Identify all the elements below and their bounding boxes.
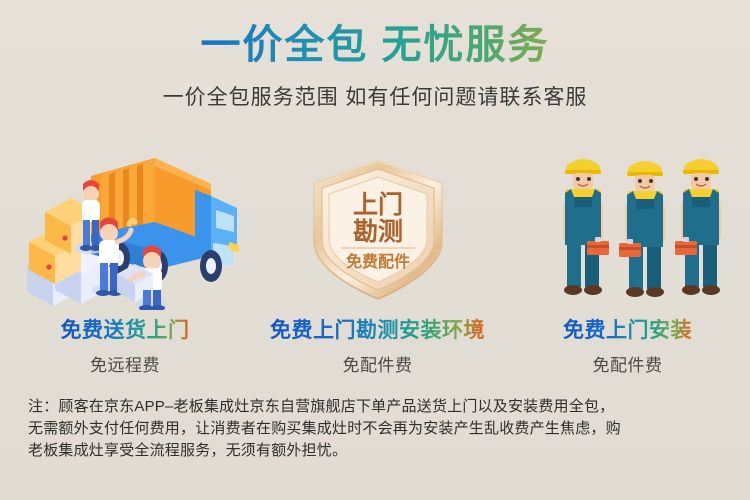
promo-banner: 一价全包 无忧服务 一价全包服务范围 如有任何问题请联系客服 — [0, 0, 750, 500]
workers-icon — [533, 153, 723, 308]
footnote-line-1: 注：顾客在京东APP–老板集成灶京东自营旗舰店下单产品送货上门以及安装费用全包， — [28, 396, 728, 418]
badge-line2: 勘测 — [352, 218, 402, 246]
feature-free-survey: 上门 勘测 免费配件 免费上门勘测安装环境 免配件费 — [250, 150, 505, 380]
feature-subtitle-free-survey: 免配件费 — [270, 351, 485, 376]
badge-line1: 上门 — [352, 190, 402, 219]
feature-captions: 免费送货上门 免远程费 — [61, 314, 190, 376]
feature-captions: 免费上门勘测安装环境 免配件费 — [270, 314, 485, 376]
three-workers-illustration — [533, 150, 723, 310]
feature-free-delivery: 免费送货上门 免远程费 — [0, 150, 250, 380]
feature-title-free-survey: 免费上门勘测安装环境 — [270, 314, 485, 344]
delivery-truck-illustration — [5, 150, 245, 310]
footnote-line-3: 老板集成灶享受全流程服务，无须有额外担忧。 — [28, 440, 728, 462]
feature-row: 免费送货上门 免远程费 — [0, 150, 750, 380]
badge-line3: 免费配件 — [345, 252, 409, 271]
banner-header: 一价全包 无忧服务 一价全包服务范围 如有任何问题请联系客服 — [0, 22, 750, 111]
page-title: 一价全包 无忧服务 — [0, 22, 750, 69]
feature-captions: 免费上门安装 免配件费 — [563, 314, 692, 376]
feature-title-free-install: 免费上门安装 — [563, 314, 692, 344]
gold-shield-badge: 上门 勘测 免费配件 — [303, 150, 453, 310]
feature-title-free-delivery: 免费送货上门 — [61, 314, 190, 344]
feature-free-install: 免费上门安装 免配件费 — [505, 150, 750, 380]
feature-subtitle-free-install: 免配件费 — [563, 351, 692, 376]
footnote-line-2: 无需额外支付任何费用，让消费者在购买集成灶时不会再为安装产生乱收费产生焦虑，购 — [28, 418, 728, 440]
page-subtitle: 一价全包服务范围 如有任何问题请联系客服 — [0, 81, 750, 111]
feature-subtitle-free-delivery: 免远程费 — [61, 351, 190, 376]
shield-icon: 上门 勘测 免费配件 — [303, 155, 453, 305]
delivery-truck-icon — [5, 150, 245, 310]
footnote-text: 注：顾客在京东APP–老板集成灶京东自营旗舰店下单产品送货上门以及安装费用全包，… — [28, 396, 728, 462]
